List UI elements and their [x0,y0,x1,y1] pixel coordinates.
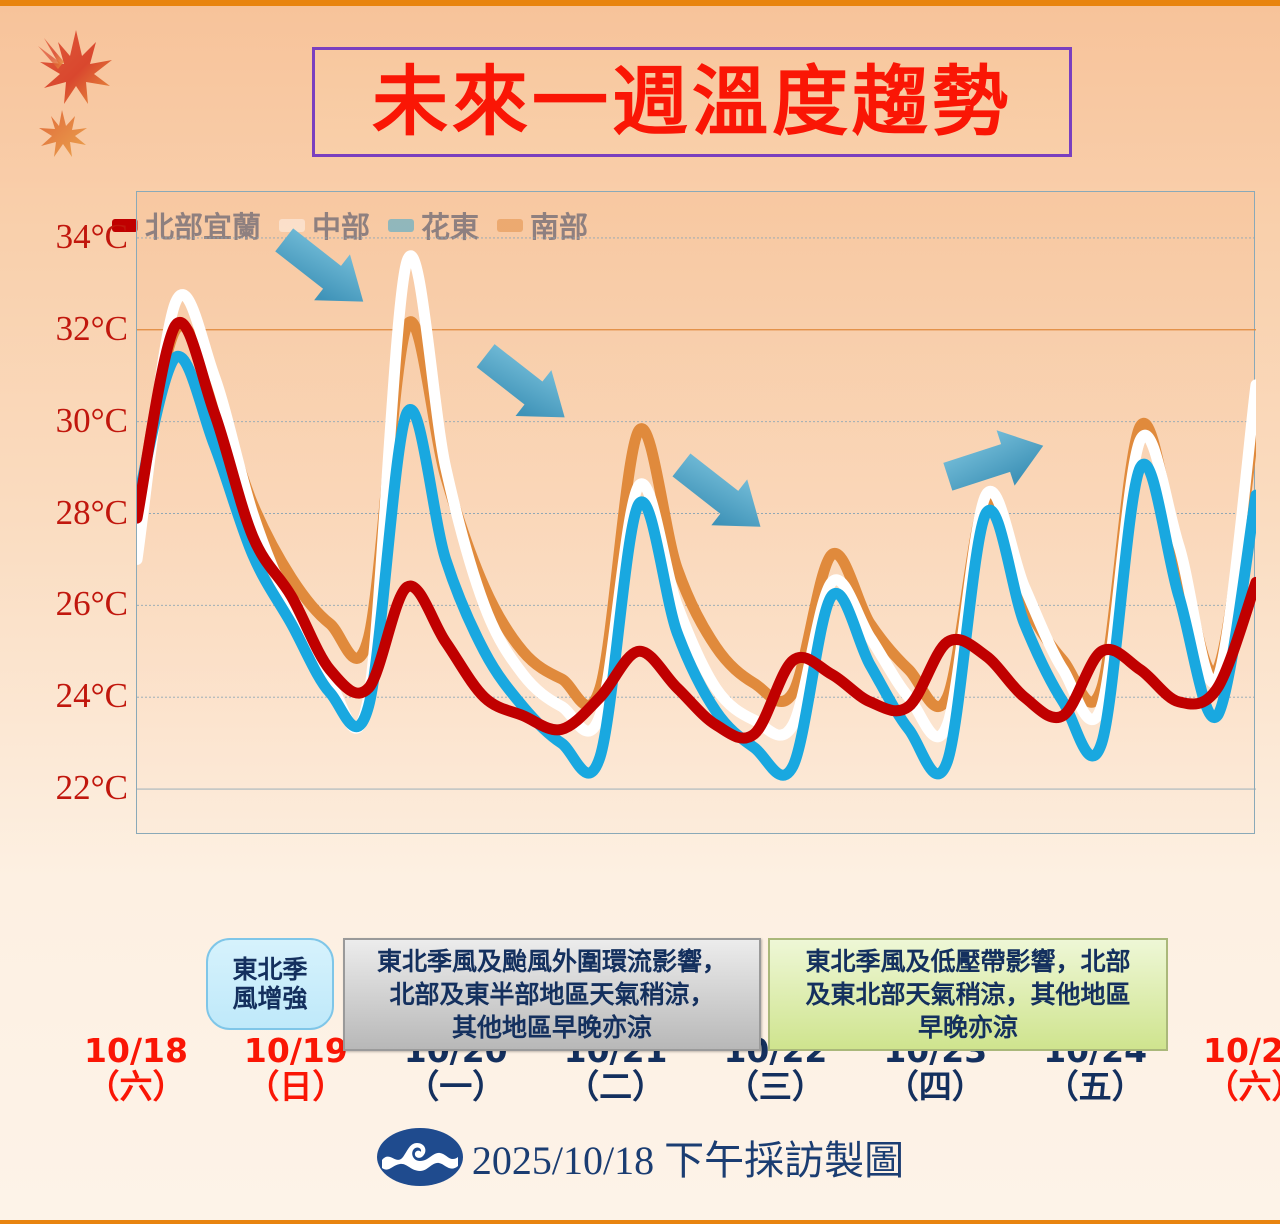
header-banner: 未來一週溫度趨勢 [0,6,1280,188]
x-axis-label-10-18: 10/18（六） [84,1033,188,1104]
note-green-text: 東北季風及低壓帶影響，北部 及東北部天氣稍涼，其他地區 早晚亦涼 [805,945,1130,1045]
note-gray-text: 東北季風及颱風外圍環流影響， 北部及東半部地區天氣稍涼， 其他地區早晚亦涼 [377,945,727,1045]
x-label-date: 10/19 [244,1033,348,1069]
footer-caption: 2025/10/18 下午採訪製圖 [472,1128,904,1186]
series-canvas [137,192,1256,835]
trend-arrow-3 [664,442,779,550]
note-box-green: 東北季風及低壓帶影響，北部 及東北部天氣稍涼，其他地區 早晚亦涼 [768,938,1168,1051]
note-box-gray: 東北季風及颱風外圍環流影響， 北部及東半部地區天氣稍涼， 其他地區早晚亦涼 [343,938,761,1051]
x-label-weekday: （二） [564,1069,668,1105]
plot-area [136,191,1255,834]
y-axis-tick-22: 22°C [56,768,128,808]
monsoon-badge-text: 東北季 風增強 [232,955,307,1014]
x-label-weekday: （日） [244,1069,348,1105]
temperature-trend-chart: 22°C24°C26°C28°C30°C32°C34°C 10/18（六）10/… [0,188,1280,848]
x-label-weekday: （四） [883,1069,987,1105]
x-label-weekday: （六） [1203,1069,1280,1105]
page-title: 未來一週溫度趨勢 [372,64,1012,140]
cwa-wave-logo-icon [376,1126,464,1188]
y-axis-tick-26: 26°C [56,584,128,624]
y-axis-tick-24: 24°C [56,676,128,716]
y-axis-tick-34: 34°C [56,217,128,257]
x-axis-label-10-19: 10/19（日） [244,1033,348,1104]
y-axis-tick-32: 32°C [56,309,128,349]
y-axis: 22°C24°C26°C28°C30°C32°C34°C [0,188,136,848]
x-label-weekday: （一） [404,1069,508,1105]
x-label-weekday: （五） [1043,1069,1147,1105]
x-label-date: 10/25 [1203,1033,1280,1069]
weather-forecast-graphic: 未來一週溫度趨勢 北部宜蘭 中部 花東 南部 22°C24°C26°C28°C3… [0,0,1280,1224]
x-label-weekday: （三） [723,1069,827,1105]
maple-leaf-icon [18,12,138,162]
monsoon-badge: 東北季 風增強 [206,938,334,1030]
footer: 2025/10/18 下午採訪製圖 [0,1126,1280,1188]
x-label-weekday: （六） [84,1069,188,1105]
x-label-date: 10/18 [84,1033,188,1069]
trend-arrow-2 [468,333,583,441]
title-box: 未來一週溫度趨勢 [312,47,1072,157]
y-axis-tick-30: 30°C [56,401,128,441]
series-lines [137,256,1256,775]
trend-arrow-1 [266,217,381,325]
x-axis-label-10-25: 10/25（六） [1203,1033,1280,1104]
y-axis-tick-28: 28°C [56,493,128,533]
